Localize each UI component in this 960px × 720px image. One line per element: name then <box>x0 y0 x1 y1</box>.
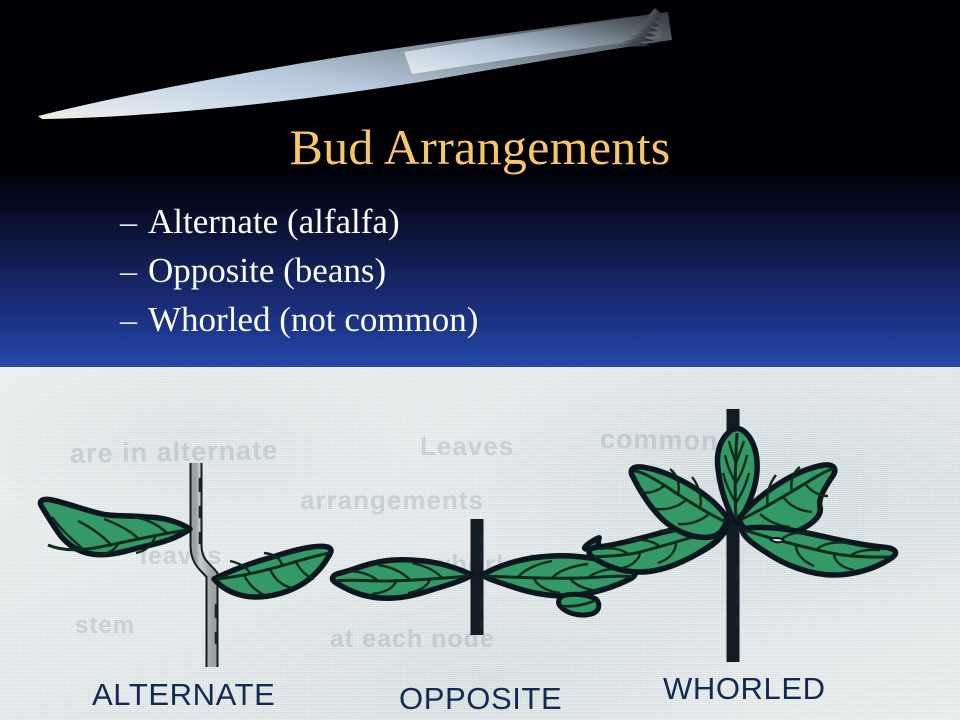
list-item: – Opposite (beans) <box>120 246 920 295</box>
presentation-slide: Bud Arrangements – Alternate (alfalfa) –… <box>0 0 960 720</box>
list-item: – Alternate (alfalfa) <box>120 197 920 246</box>
leaf-arrangement-figure: are in alternateLeavescommonarrangements… <box>0 367 960 720</box>
diagram-whorled <box>585 409 896 662</box>
diagram-opposite <box>333 519 636 635</box>
caption-alternate: ALTERNATE <box>92 678 275 712</box>
bullet-dash-icon: – <box>120 247 148 296</box>
leaf-diagrams-svg <box>0 367 960 720</box>
bullet-label: Opposite (beans) <box>148 246 386 295</box>
list-item: – Whorled (not common) <box>120 295 920 344</box>
caption-whorled: WHORLED <box>663 672 826 706</box>
bullet-dash-icon: – <box>120 296 148 345</box>
caption-opposite: OPPOSITE <box>399 682 562 716</box>
bullet-dash-icon: – <box>120 198 148 247</box>
bullet-list: – Alternate (alfalfa) – Opposite (beans)… <box>120 197 920 344</box>
leaf-fragment <box>559 594 599 615</box>
bullet-label: Alternate (alfalfa) <box>148 197 400 246</box>
bullet-label: Whorled (not common) <box>148 295 478 344</box>
slide-title: Bud Arrangements <box>0 118 960 176</box>
diagram-alternate <box>40 463 331 667</box>
